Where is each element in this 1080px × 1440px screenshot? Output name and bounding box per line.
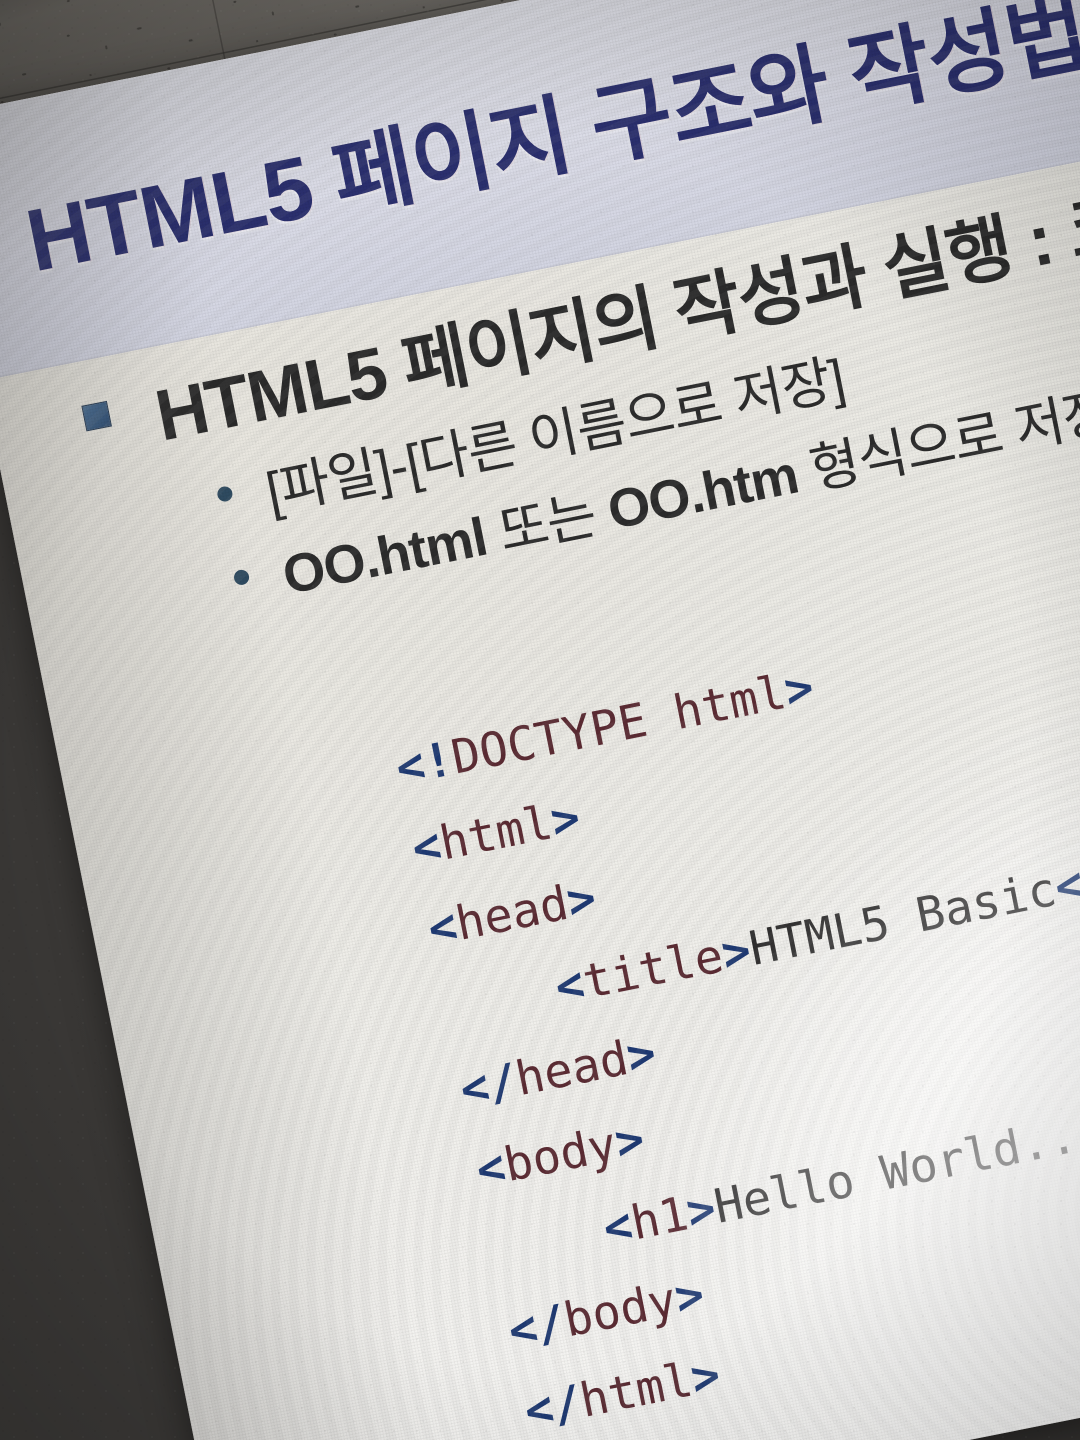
html-code-sample: <!DOCTYPE html><html><head> <title>HTML5… xyxy=(389,564,1080,1440)
round-bullet-icon xyxy=(216,485,234,503)
round-bullet-icon xyxy=(233,569,251,587)
square-bullet-icon xyxy=(81,401,112,432)
slide-surface: HTML5 페이지 구조와 작성법 HTML5 페이지의 작성과 실행 : 코드… xyxy=(0,0,1080,1440)
classroom-photo: HTML5 페이지 구조와 작성법 HTML5 페이지의 작성과 실행 : 코드… xyxy=(0,0,1080,1440)
projection-screen: HTML5 페이지 구조와 작성법 HTML5 페이지의 작성과 실행 : 코드… xyxy=(0,0,1080,1440)
